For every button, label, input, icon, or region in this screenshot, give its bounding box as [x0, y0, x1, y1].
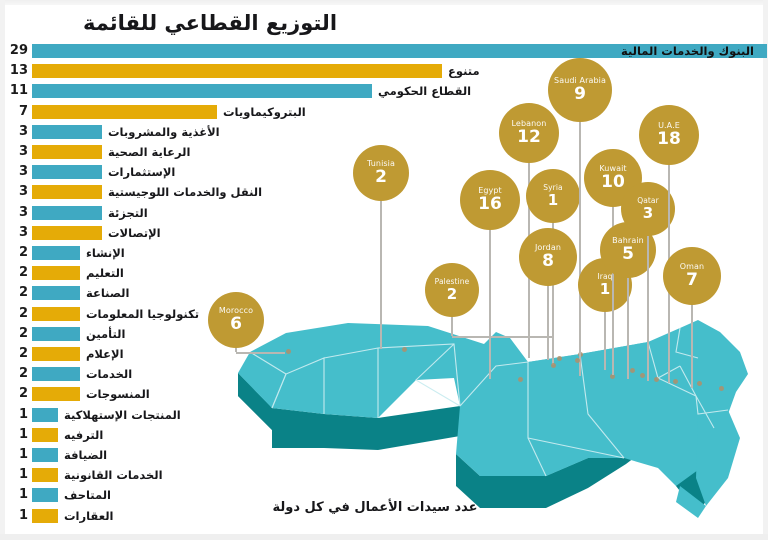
map-marker-morocco[interactable]: Morocco6	[208, 292, 264, 348]
marker-stem	[627, 276, 629, 379]
marker-stem	[604, 310, 606, 370]
infographic-canvas: التوزيع القطاعي للقائمة	[0, 0, 768, 540]
map-marker-egypt[interactable]: Egypt16	[460, 170, 520, 230]
map-location-dot	[575, 358, 580, 363]
map-caption: عدد سيدات الأعمال في كل دولة	[230, 498, 520, 518]
map-location-dot	[518, 377, 523, 382]
marker-stem	[647, 234, 649, 381]
marker-country-name: Iraq	[597, 273, 612, 281]
marker-stem	[451, 317, 453, 336]
map-marker-syria[interactable]: Syria1	[526, 169, 580, 223]
marker-count: 8	[542, 253, 554, 270]
marker-country-name: Egypt	[478, 187, 502, 196]
marker-count: 12	[517, 129, 541, 146]
marker-country-name: Tunisia	[367, 160, 395, 169]
marker-count: 6	[230, 316, 242, 333]
marker-country-name: U.A.E	[658, 122, 680, 131]
marker-count: 7	[686, 272, 698, 289]
map-marker-saudi-arabia[interactable]: Saudi Arabia9	[548, 58, 612, 122]
map-marker-lebanon[interactable]: Lebanon12	[499, 103, 559, 163]
map-marker-tunisia[interactable]: Tunisia2	[353, 145, 409, 201]
marker-count: 2	[447, 287, 457, 302]
marker-stem	[380, 199, 382, 349]
map-marker-u-a-e[interactable]: U.A.E18	[639, 105, 699, 165]
map-location-dot	[557, 356, 562, 361]
map-marker-oman[interactable]: Oman7	[663, 247, 721, 305]
map-location-dot	[673, 379, 678, 384]
marker-country-name: Oman	[680, 263, 704, 272]
marker-elbow	[452, 336, 553, 338]
map-location-dot	[630, 368, 635, 373]
map-marker-jordan[interactable]: Jordan8	[519, 228, 577, 286]
marker-country-name: Bahrain	[612, 237, 644, 246]
marker-count: 1	[548, 193, 558, 208]
marker-elbow	[236, 352, 285, 354]
marker-count: 18	[657, 131, 681, 148]
marker-stem	[579, 120, 581, 376]
marker-country-name: Lebanon	[512, 120, 547, 129]
marker-country-name: Morocco	[219, 307, 253, 316]
marker-country-name: Syria	[543, 184, 562, 192]
country-markers-layer: Morocco6Tunisia2Palestine2Egypt16Lebanon…	[0, 0, 768, 540]
marker-country-name: Palestine	[435, 278, 470, 286]
marker-count: 3	[643, 206, 653, 221]
map-location-dot	[286, 349, 291, 354]
marker-country-name: Jordan	[535, 244, 561, 253]
marker-count: 10	[601, 174, 625, 191]
marker-country-name: Saudi Arabia	[554, 77, 606, 86]
map-location-dot	[640, 373, 645, 378]
map-location-dot	[402, 347, 407, 352]
map-location-dot	[697, 381, 702, 386]
map-location-dot	[551, 363, 556, 368]
marker-stem	[691, 303, 693, 388]
marker-country-name: Kuwait	[599, 165, 626, 174]
marker-count: 9	[574, 86, 586, 103]
marker-count: 1	[600, 282, 610, 297]
marker-count: 5	[622, 246, 634, 263]
marker-stem	[547, 284, 549, 360]
map-marker-qatar[interactable]: Qatar3	[621, 182, 675, 236]
map-location-dot	[719, 386, 724, 391]
map-location-dot	[654, 377, 659, 382]
marker-count: 2	[375, 169, 387, 186]
map-marker-palestine[interactable]: Palestine2	[425, 263, 479, 317]
marker-count: 16	[478, 196, 502, 213]
marker-stem	[489, 228, 491, 379]
marker-country-name: Qatar	[637, 197, 659, 205]
